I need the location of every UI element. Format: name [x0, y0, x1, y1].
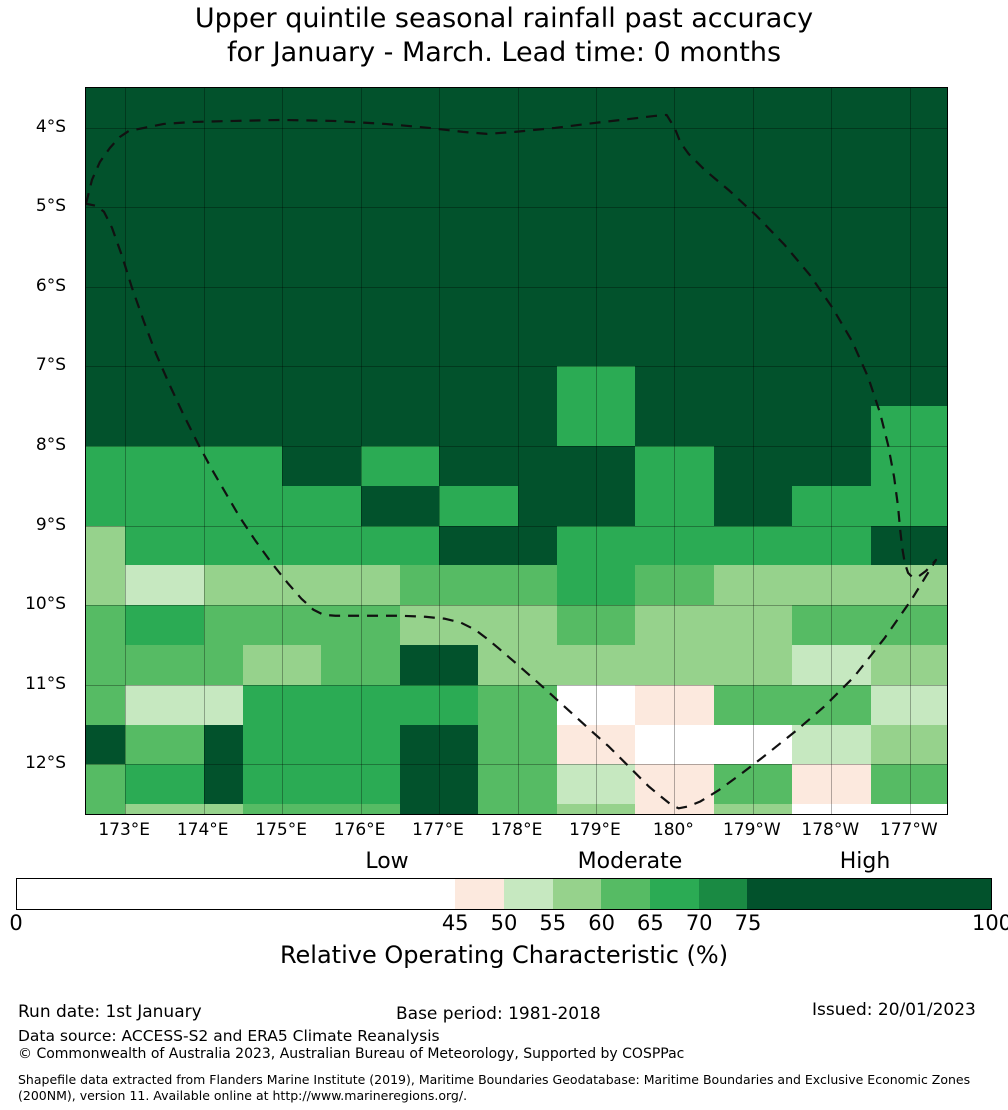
heatmap-cell	[753, 128, 793, 169]
heatmap-cell	[557, 685, 597, 726]
heatmap-cell	[400, 725, 440, 766]
heatmap-cell	[400, 88, 440, 129]
heatmap-cell	[478, 327, 518, 368]
heatmap-cell	[243, 685, 283, 726]
heatmap-cell	[282, 327, 322, 368]
heatmap-cell	[753, 804, 793, 815]
heatmap-cell	[439, 764, 479, 805]
heatmap-cell	[400, 565, 440, 606]
heatmap-cell	[321, 247, 361, 288]
heatmap-cell	[243, 804, 283, 815]
colorbar-segment	[699, 879, 748, 909]
heatmap-cell	[557, 366, 597, 407]
heatmap-cell	[910, 406, 948, 447]
rainfall-accuracy-heatmap	[85, 87, 948, 815]
colorbar-category-moderate: Moderate	[530, 849, 730, 875]
heatmap-cell	[518, 287, 558, 328]
heatmap-cell	[400, 764, 440, 805]
heatmap-cell	[164, 645, 204, 686]
heatmap-cell	[831, 128, 871, 169]
heatmap-cell	[204, 207, 244, 248]
heatmap-cell	[164, 128, 204, 169]
heatmap-cell	[439, 685, 479, 726]
heatmap-cell	[439, 207, 479, 248]
heatmap-cell	[674, 645, 714, 686]
heatmap-cell	[674, 128, 714, 169]
heatmap-cell	[321, 645, 361, 686]
heatmap-cell	[400, 366, 440, 407]
heatmap-cell	[871, 168, 911, 209]
heatmap-cell	[753, 725, 793, 766]
heatmap-cell	[792, 486, 832, 527]
heatmap-cell	[361, 327, 401, 368]
heatmap-cell	[361, 725, 401, 766]
heatmap-cell	[635, 645, 675, 686]
heatmap-cell	[753, 88, 793, 129]
heatmap-cell	[871, 88, 911, 129]
heatmap-cell	[753, 168, 793, 209]
heatmap-cell	[164, 486, 204, 527]
heatmap-cell	[753, 605, 793, 646]
heatmap-cell	[753, 406, 793, 447]
heatmap-cell	[831, 327, 871, 368]
heatmap-cell	[243, 446, 283, 487]
heatmap-cell	[204, 764, 244, 805]
heatmap-cell	[204, 287, 244, 328]
heatmap-cell	[831, 88, 871, 129]
heatmap-cell	[243, 128, 283, 169]
heatmap-cell	[910, 247, 948, 288]
heatmap-cell	[204, 605, 244, 646]
heatmap-cell	[204, 446, 244, 487]
heatmap-cell	[792, 207, 832, 248]
heatmap-cell	[164, 406, 204, 447]
heatmap-cell	[753, 287, 793, 328]
heatmap-cell	[910, 685, 948, 726]
heatmap-cell	[792, 406, 832, 447]
heatmap-cell	[674, 526, 714, 567]
heatmap-cell	[164, 565, 204, 606]
heatmap-cell	[321, 446, 361, 487]
heatmap-cell	[282, 565, 322, 606]
heatmap-cell	[125, 804, 165, 815]
colorbar-segment	[455, 879, 504, 909]
heatmap-cell	[204, 406, 244, 447]
heatmap-cell	[792, 168, 832, 209]
heatmap-cell	[204, 88, 244, 129]
heatmap-cell	[714, 645, 754, 686]
heatmap-cell	[714, 446, 754, 487]
heatmap-cell	[361, 168, 401, 209]
heatmap-cell	[125, 406, 165, 447]
y-axis-tick-label: 7°S	[0, 357, 66, 374]
heatmap-cell	[596, 526, 636, 567]
heatmap-cell	[674, 247, 714, 288]
heatmap-cell	[400, 645, 440, 686]
heatmap-cell	[439, 327, 479, 368]
heatmap-cell	[753, 565, 793, 606]
heatmap-cell	[596, 366, 636, 407]
heatmap-cell	[204, 565, 244, 606]
heatmap-cell	[557, 207, 597, 248]
heatmap-cell	[439, 247, 479, 288]
colorbar-tick-label: 100	[952, 911, 1008, 936]
heatmap-cell	[714, 685, 754, 726]
heatmap-cell	[86, 804, 126, 815]
page-title: Upper quintile seasonal rainfall past ac…	[0, 2, 1008, 70]
heatmap-cell	[831, 287, 871, 328]
heatmap-cell	[243, 247, 283, 288]
heatmap-cell	[792, 128, 832, 169]
heatmap-cell	[125, 327, 165, 368]
heatmap-cell	[439, 287, 479, 328]
heatmap-cell	[518, 725, 558, 766]
heatmap-cell	[635, 366, 675, 407]
y-axis-tick-label: 9°S	[0, 517, 66, 534]
heatmap-cell	[910, 764, 948, 805]
heatmap-cell	[674, 366, 714, 407]
heatmap-cell	[204, 526, 244, 567]
heatmap-cell	[243, 327, 283, 368]
heatmap-cell	[125, 725, 165, 766]
y-axis-tick-label: 12°S	[0, 755, 66, 772]
heatmap-cell	[557, 247, 597, 288]
heatmap-cell	[910, 287, 948, 328]
heatmap-cell	[871, 327, 911, 368]
heatmap-cell	[361, 685, 401, 726]
heatmap-cell	[282, 287, 322, 328]
heatmap-cell	[243, 605, 283, 646]
heatmap-cell	[557, 128, 597, 169]
heatmap-cell	[674, 207, 714, 248]
heatmap-cell	[674, 486, 714, 527]
heatmap-cell	[478, 207, 518, 248]
heatmap-cell	[86, 168, 126, 209]
heatmap-cell	[871, 247, 911, 288]
heatmap-cell	[871, 725, 911, 766]
heatmap-cell	[792, 804, 832, 815]
heatmap-cell	[125, 565, 165, 606]
heatmap-cell	[439, 565, 479, 606]
heatmap-cell	[714, 605, 754, 646]
heatmap-cell	[792, 327, 832, 368]
heatmap-cell	[478, 605, 518, 646]
heatmap-cell	[439, 446, 479, 487]
heatmap-cell	[910, 725, 948, 766]
issued-date-text: Issued: 20/01/2023	[812, 1000, 976, 1020]
heatmap-cell	[125, 605, 165, 646]
heatmap-cell	[400, 605, 440, 646]
heatmap-cell	[910, 605, 948, 646]
heatmap-cell	[86, 685, 126, 726]
heatmap-cell	[125, 287, 165, 328]
heatmap-cell	[439, 645, 479, 686]
heatmap-cell	[518, 88, 558, 129]
heatmap-cell	[871, 486, 911, 527]
heatmap-cell	[831, 764, 871, 805]
heatmap-cell	[518, 685, 558, 726]
heatmap-cell	[674, 804, 714, 815]
heatmap-cell	[164, 446, 204, 487]
heatmap-cell	[635, 128, 675, 169]
heatmap-cells	[86, 88, 947, 814]
heatmap-cell	[635, 685, 675, 726]
heatmap-cell	[125, 645, 165, 686]
colorbar-category-low: Low	[287, 849, 487, 875]
heatmap-cell	[125, 88, 165, 129]
heatmap-cell	[282, 247, 322, 288]
heatmap-cell	[910, 88, 948, 129]
heatmap-cell	[714, 366, 754, 407]
heatmap-cell	[792, 88, 832, 129]
heatmap-cell	[321, 287, 361, 328]
heatmap-cell	[321, 565, 361, 606]
heatmap-cell	[596, 207, 636, 248]
heatmap-cell	[910, 526, 948, 567]
heatmap-cell	[439, 168, 479, 209]
heatmap-cell	[204, 685, 244, 726]
heatmap-cell	[871, 207, 911, 248]
heatmap-cell	[361, 88, 401, 129]
heatmap-cell	[518, 327, 558, 368]
y-axis-tick-label: 5°S	[0, 198, 66, 215]
colorbar-gradient	[16, 878, 992, 910]
heatmap-cell	[204, 168, 244, 209]
heatmap-cell	[400, 406, 440, 447]
heatmap-cell	[518, 645, 558, 686]
heatmap-cell	[400, 446, 440, 487]
heatmap-cell	[439, 725, 479, 766]
heatmap-cell	[400, 804, 440, 815]
heatmap-cell	[125, 207, 165, 248]
heatmap-cell	[557, 287, 597, 328]
heatmap-cell	[635, 446, 675, 487]
heatmap-cell	[714, 168, 754, 209]
heatmap-cell	[400, 287, 440, 328]
heatmap-cell	[400, 327, 440, 368]
heatmap-cell	[831, 168, 871, 209]
heatmap-cell	[518, 366, 558, 407]
heatmap-cell	[439, 128, 479, 169]
heatmap-cell	[831, 406, 871, 447]
heatmap-cell	[204, 366, 244, 407]
heatmap-cell	[125, 526, 165, 567]
heatmap-cell	[361, 406, 401, 447]
heatmap-cell	[86, 446, 126, 487]
heatmap-cell	[243, 287, 283, 328]
heatmap-cell	[792, 685, 832, 726]
heatmap-cell	[557, 168, 597, 209]
heatmap-cell	[86, 207, 126, 248]
heatmap-cell	[831, 247, 871, 288]
heatmap-cell	[596, 168, 636, 209]
heatmap-cell	[714, 725, 754, 766]
colorbar-category-high: High	[765, 849, 965, 875]
heatmap-cell	[282, 526, 322, 567]
heatmap-cell	[714, 287, 754, 328]
heatmap-cell	[910, 168, 948, 209]
heatmap-cell	[518, 565, 558, 606]
heatmap-cell	[361, 366, 401, 407]
heatmap-cell	[635, 287, 675, 328]
heatmap-cell	[164, 526, 204, 567]
heatmap-cell	[518, 247, 558, 288]
heatmap-cell	[321, 168, 361, 209]
heatmap-cell	[518, 168, 558, 209]
heatmap-cell	[439, 486, 479, 527]
heatmap-cell	[831, 526, 871, 567]
heatmap-cell	[753, 207, 793, 248]
heatmap-cell	[478, 526, 518, 567]
heatmap-cell	[518, 486, 558, 527]
heatmap-cell	[753, 526, 793, 567]
y-axis-tick-label: 6°S	[0, 278, 66, 295]
heatmap-cell	[871, 764, 911, 805]
heatmap-cell	[478, 645, 518, 686]
heatmap-cell	[243, 526, 283, 567]
heatmap-cell	[282, 168, 322, 209]
heatmap-cell	[125, 685, 165, 726]
heatmap-cell	[321, 605, 361, 646]
heatmap-cell	[361, 128, 401, 169]
heatmap-cell	[596, 486, 636, 527]
heatmap-cell	[753, 764, 793, 805]
heatmap-cell	[871, 804, 911, 815]
heatmap-cell	[635, 168, 675, 209]
heatmap-cell	[910, 804, 948, 815]
heatmap-cell	[596, 88, 636, 129]
heatmap-cell	[282, 645, 322, 686]
heatmap-cell	[204, 725, 244, 766]
heatmap-cell	[361, 247, 401, 288]
colorbar-segment	[504, 879, 553, 909]
heatmap-cell	[243, 486, 283, 527]
heatmap-cell	[831, 645, 871, 686]
heatmap-cell	[361, 565, 401, 606]
heatmap-cell	[792, 287, 832, 328]
copyright-text: © Commonwealth of Australia 2023, Austra…	[18, 1046, 684, 1062]
heatmap-cell	[557, 804, 597, 815]
data-source-text: Data source: ACCESS-S2 and ERA5 Climate …	[18, 1027, 440, 1045]
heatmap-cell	[164, 605, 204, 646]
heatmap-cell	[753, 327, 793, 368]
heatmap-cell	[86, 128, 126, 169]
y-axis-tick-label: 8°S	[0, 437, 66, 454]
heatmap-cell	[596, 247, 636, 288]
heatmap-cell	[164, 764, 204, 805]
heatmap-cell	[478, 565, 518, 606]
heatmap-cell	[635, 526, 675, 567]
heatmap-cell	[361, 287, 401, 328]
heatmap-cell	[400, 247, 440, 288]
heatmap-cell	[361, 486, 401, 527]
heatmap-cell	[635, 207, 675, 248]
heatmap-cell	[871, 287, 911, 328]
heatmap-cell	[753, 446, 793, 487]
heatmap-cell	[596, 406, 636, 447]
heatmap-cell	[321, 128, 361, 169]
colorbar	[16, 878, 992, 910]
heatmap-cell	[831, 565, 871, 606]
heatmap-cell	[596, 327, 636, 368]
heatmap-cell	[125, 446, 165, 487]
heatmap-cell	[86, 486, 126, 527]
heatmap-cell	[518, 526, 558, 567]
heatmap-cell	[674, 764, 714, 805]
heatmap-cell	[478, 128, 518, 169]
heatmap-cell	[714, 128, 754, 169]
heatmap-cell	[557, 486, 597, 527]
heatmap-cell	[321, 685, 361, 726]
heatmap-cell	[86, 565, 126, 606]
x-axis-tick-label: 177°W	[854, 820, 964, 840]
heatmap-cell	[674, 685, 714, 726]
heatmap-cell	[871, 685, 911, 726]
heatmap-cell	[596, 804, 636, 815]
heatmap-cell	[164, 685, 204, 726]
heatmap-cell	[714, 207, 754, 248]
heatmap-cell	[596, 685, 636, 726]
heatmap-cell	[714, 88, 754, 129]
heatmap-cell	[282, 406, 322, 447]
heatmap-cell	[478, 725, 518, 766]
heatmap-cell	[635, 565, 675, 606]
heatmap-cell	[674, 725, 714, 766]
heatmap-cell	[792, 565, 832, 606]
heatmap-cell	[282, 725, 322, 766]
heatmap-cell	[674, 88, 714, 129]
heatmap-cell	[831, 804, 871, 815]
heatmap-cell	[243, 565, 283, 606]
colorbar-axis-label: Relative Operating Characteristic (%)	[0, 940, 1008, 970]
heatmap-cell	[557, 645, 597, 686]
heatmap-cell	[910, 565, 948, 606]
heatmap-cell	[714, 406, 754, 447]
heatmap-cell	[439, 804, 479, 815]
heatmap-cell	[125, 247, 165, 288]
heatmap-cell	[321, 406, 361, 447]
heatmap-cell	[871, 128, 911, 169]
heatmap-cell	[557, 565, 597, 606]
heatmap-cell	[635, 764, 675, 805]
heatmap-cell	[86, 645, 126, 686]
heatmap-cell	[439, 88, 479, 129]
heatmap-cell	[714, 526, 754, 567]
heatmap-cell	[361, 645, 401, 686]
heatmap-cell	[871, 565, 911, 606]
heatmap-cell	[596, 565, 636, 606]
heatmap-cell	[243, 88, 283, 129]
heatmap-cell	[439, 605, 479, 646]
heatmap-cell	[164, 804, 204, 815]
heatmap-cell	[831, 725, 871, 766]
heatmap-cell	[243, 366, 283, 407]
heatmap-cell	[557, 764, 597, 805]
heatmap-cell	[714, 247, 754, 288]
heatmap-cell	[361, 526, 401, 567]
colorbar-segment	[553, 879, 602, 909]
title-line-2: for January - March. Lead time: 0 months	[0, 36, 1008, 70]
heatmap-cell	[282, 685, 322, 726]
y-axis-tick-label: 11°S	[0, 676, 66, 693]
heatmap-cell	[753, 366, 793, 407]
heatmap-cell	[439, 526, 479, 567]
heatmap-cell	[518, 406, 558, 447]
heatmap-cell	[518, 804, 558, 815]
heatmap-cell	[596, 605, 636, 646]
heatmap-cell	[635, 88, 675, 129]
heatmap-cell	[792, 446, 832, 487]
